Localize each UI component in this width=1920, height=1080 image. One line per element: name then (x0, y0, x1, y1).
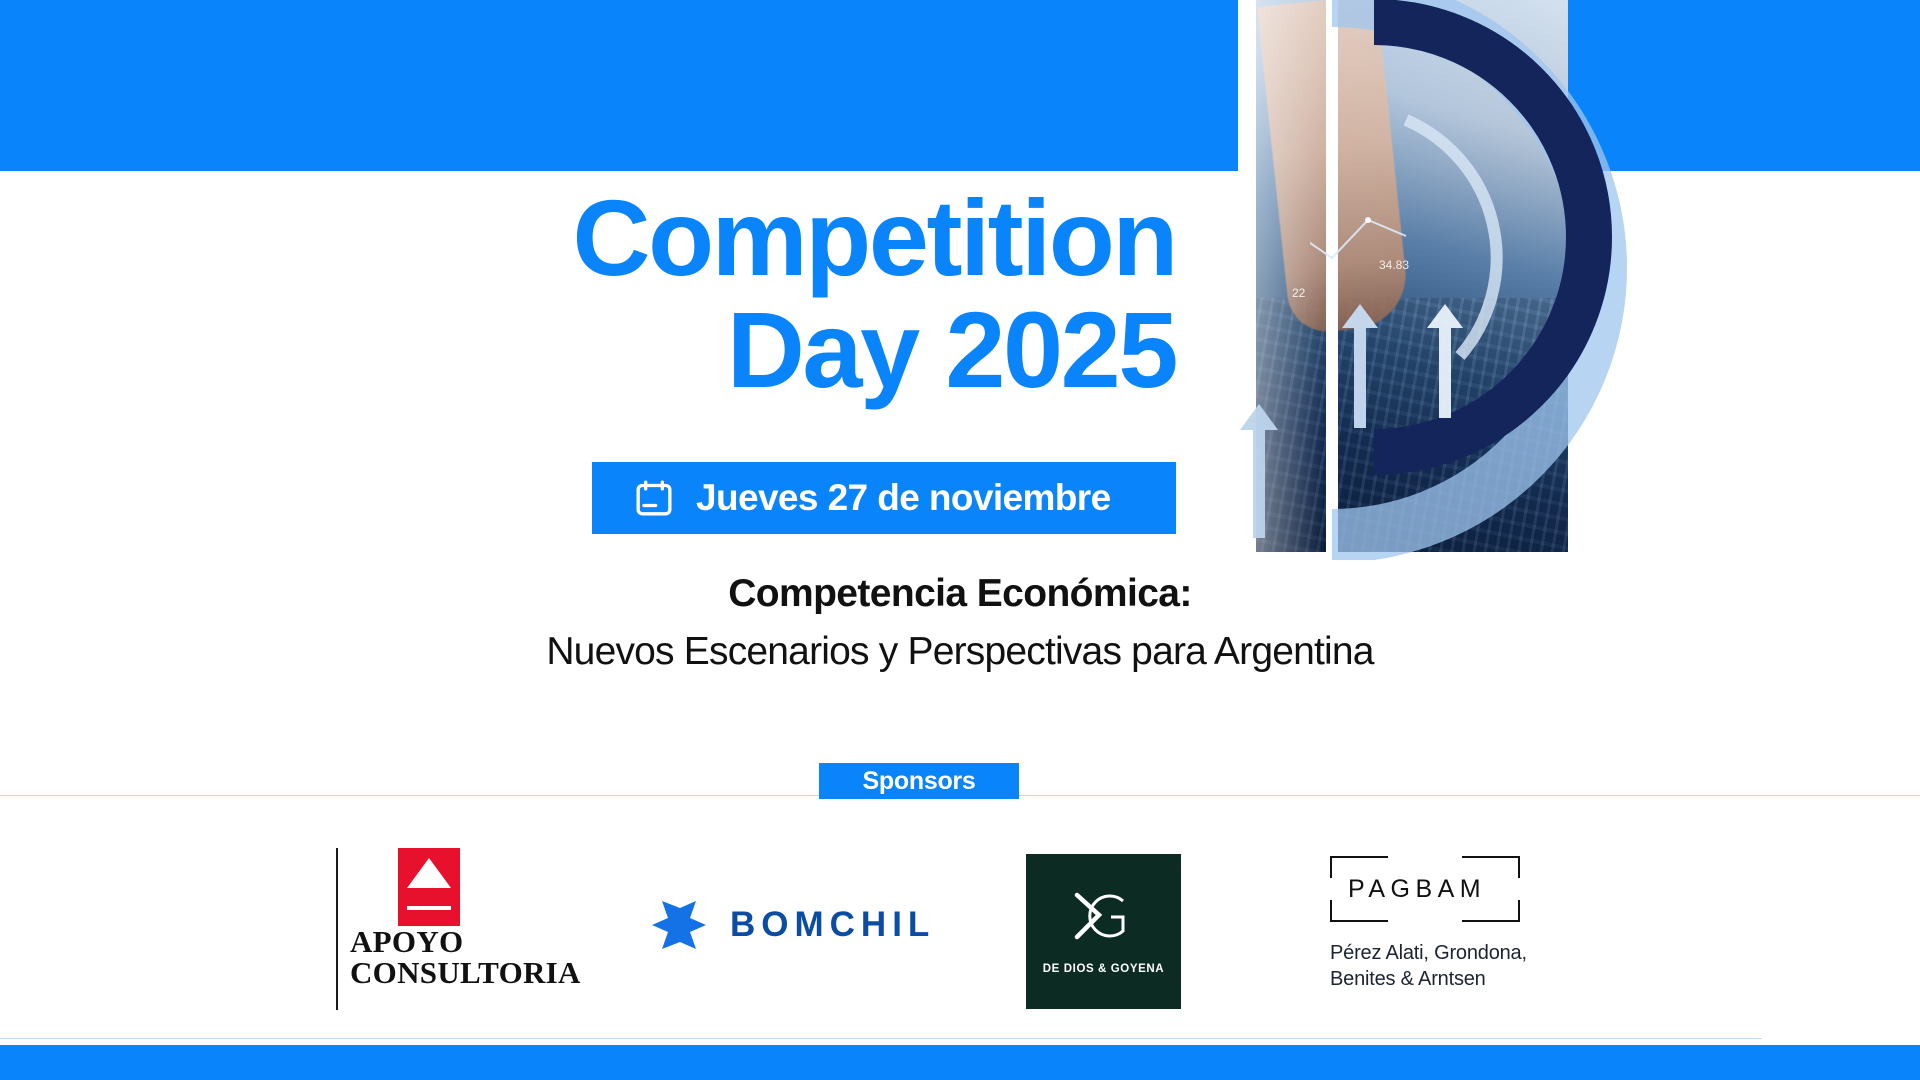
sponsor-logo-de-dios-goyena: DE DIOS & GOYENA (1026, 854, 1181, 1009)
subtitle-bold: Competencia Económica: (0, 572, 1920, 616)
event-title: Competition Day 2025 (0, 182, 1238, 407)
top-blue-band (0, 0, 1920, 171)
apoyo-wordmark: APOYO CONSULTORIA (350, 926, 581, 988)
apoyo-line-2: CONSULTORIA (350, 957, 581, 988)
subtitle-regular: Nuevos Escenarios y Perspectivas para Ar… (0, 630, 1920, 674)
hero-image (1238, 0, 1568, 552)
hero-sliver-mid (1326, 0, 1338, 552)
pagbam-name-line-2: Benites & Arntsen (1330, 966, 1527, 992)
bomchil-mark-icon (650, 899, 708, 951)
sponsor-logo-row: APOYO CONSULTORIA BOMCHIL DE DIOS & GOYE… (0, 818, 1920, 1008)
bottom-divider (0, 1038, 1762, 1039)
event-date-badge: Jueves 27 de noviembre (592, 462, 1176, 534)
title-line-1: Competition (0, 182, 1176, 294)
apoyo-vertical-rule (336, 848, 338, 1010)
bottom-blue-band (0, 1045, 1920, 1080)
calendar-icon (634, 478, 674, 518)
apoyo-line-1: APOYO (350, 926, 581, 957)
apoyo-red-mark-icon (398, 848, 460, 926)
event-date-text: Jueves 27 de noviembre (696, 477, 1111, 519)
event-flyer: 22 34.83 Competition Day 2025 Jueves 27 … (0, 0, 1920, 1080)
dedios-monogram-icon (1071, 889, 1137, 951)
pagbam-full-name: Pérez Alati, Grondona, Benites & Arntsen (1330, 940, 1527, 992)
event-subtitle: Competencia Económica: Nuevos Escenarios… (0, 572, 1920, 674)
sponsors-label: Sponsors (819, 763, 1019, 799)
pagbam-wordmark: PAGBAM (1348, 875, 1486, 904)
hero-sliver-left (1238, 0, 1256, 552)
pagbam-name-line-1: Pérez Alati, Grondona, (1330, 940, 1527, 966)
sponsor-logo-bomchil: BOMCHIL (650, 896, 950, 954)
bomchil-wordmark: BOMCHIL (730, 905, 935, 945)
sponsor-logo-pagbam: PAGBAM Pérez Alati, Grondona, Benites & … (1330, 856, 1590, 1006)
dedios-wordmark: DE DIOS & GOYENA (1043, 963, 1164, 975)
hero-shade-overlay (1238, 0, 1568, 552)
title-line-2: Day 2025 (0, 294, 1176, 406)
sponsor-logo-apoyo-consultoria: APOYO CONSULTORIA (336, 848, 566, 1010)
